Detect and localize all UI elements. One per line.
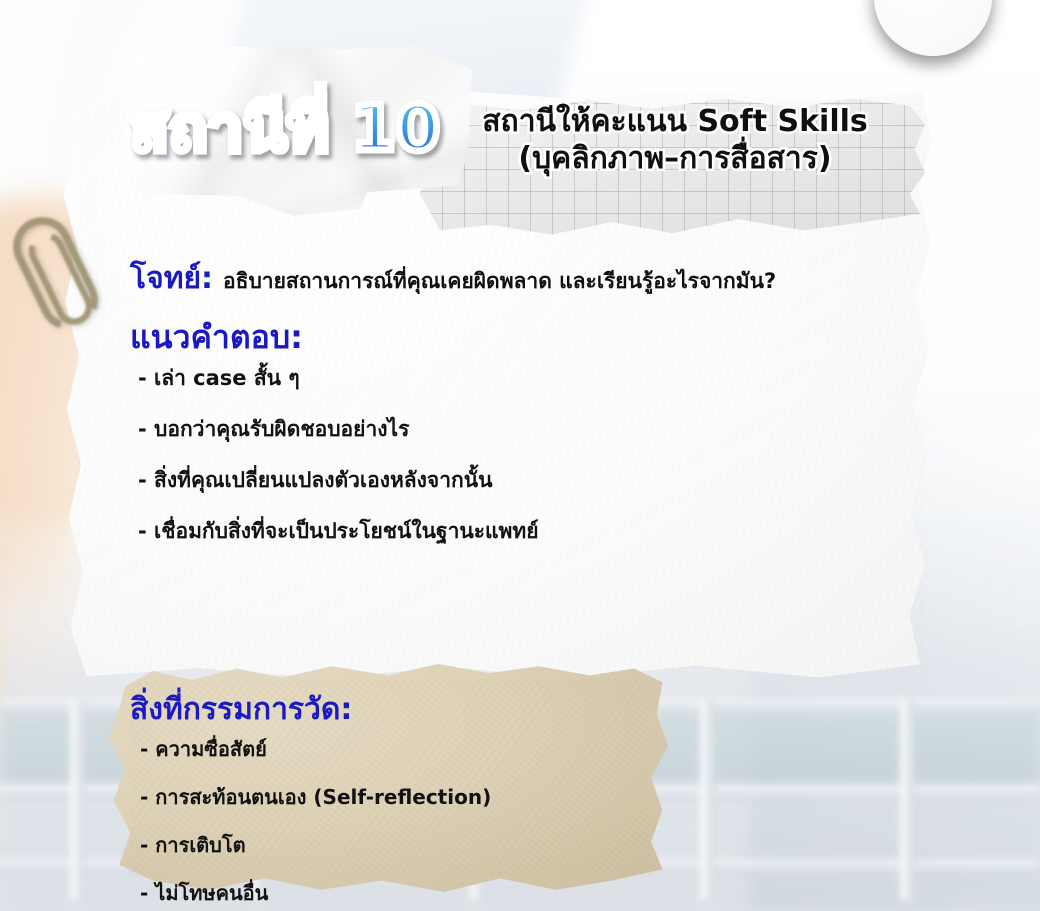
list-item: - การเติบโต (140, 829, 640, 861)
list-item: - บอกว่าคุณรับผิดชอบอย่างไร (138, 413, 898, 446)
station-subtitle: สถานีให้คะแนน Soft Skills (บุคลิกภาพ–การ… (440, 104, 910, 177)
list-item: - เล่า case สั้น ๆ (138, 362, 898, 395)
question-label: โจทย์: (130, 255, 213, 302)
answer-guide-list: - เล่า case สั้น ๆ - บอกว่าคุณรับผิดชอบอ… (138, 362, 898, 566)
list-item: - การสะท้อนตนเอง (Self-reflection) (140, 781, 640, 813)
list-item: - ไม่โทษคนอื่น (140, 877, 640, 909)
background-post-4 (700, 700, 715, 900)
list-item: - เชื่อมกับสิ่งที่จะเป็นประโยชน์ในฐานะแพ… (138, 515, 898, 548)
list-item: - ความซื่อสัตย์ (140, 733, 640, 765)
subtitle-line-2: (บุคลิกภาพ–การสื่อสาร) (440, 141, 910, 178)
poster-canvas: สถานีให้คะแนน Soft Skills (บุคลิกภาพ–การ… (0, 0, 1040, 911)
background-post-5 (900, 700, 915, 900)
answer-guide-heading: แนวคำตอบ: (130, 312, 303, 363)
background-post-1 (70, 700, 85, 900)
question-text: อธิบายสถานการณ์ที่คุณเคยผิดพลาด และเรียน… (223, 265, 776, 298)
criteria-list: - ความซื่อสัตย์ - การสะท้อนตนเอง (Self-r… (140, 733, 640, 911)
criteria-heading: สิ่งที่กรรมการวัด: (130, 686, 352, 733)
list-item: - สิ่งที่คุณเปลี่ยนแปลงตัวเองหลังจากนั้น (138, 464, 898, 497)
station-title: สถานีที่ 10 (130, 88, 480, 168)
question-row: โจทย์: อธิบายสถานการณ์ที่คุณเคยผิดพลาด แ… (130, 255, 910, 302)
subtitle-line-1: สถานีให้คะแนน Soft Skills (440, 104, 910, 141)
